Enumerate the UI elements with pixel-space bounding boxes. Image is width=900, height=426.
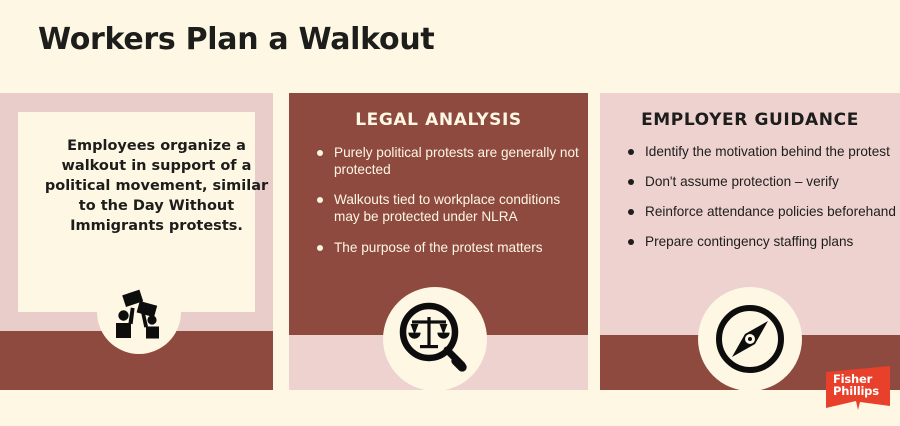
infographic-canvas: Workers Plan a Walkout Employees organiz…: [0, 0, 900, 426]
page-title: Workers Plan a Walkout: [38, 22, 434, 57]
protest-signs-icon: [97, 270, 181, 354]
compass-icon: [698, 287, 802, 391]
list-item: Purely political protests are generally …: [317, 144, 579, 178]
panel-employer-guidance-heading: EMPLOYER GUIDANCE: [600, 110, 900, 130]
panel-scenario-text: Employees organize a walkout in support …: [44, 136, 269, 236]
list-item: Identify the motivation behind the prote…: [628, 143, 898, 160]
panel-employer-guidance-bullets: Identify the motivation behind the prote…: [628, 143, 898, 264]
scales-magnifier-icon: [383, 287, 487, 391]
panel-legal-analysis-bullets: Purely political protests are generally …: [317, 144, 579, 269]
list-item: Reinforce attendance policies beforehand: [628, 203, 898, 220]
logo-line-2: Phillips: [833, 385, 879, 397]
list-item: The purpose of the protest matters: [317, 239, 579, 256]
panel-legal-analysis-heading: LEGAL ANALYSIS: [289, 110, 588, 130]
logo-text: Fisher Phillips: [833, 373, 879, 398]
fisher-phillips-logo: Fisher Phillips: [824, 366, 892, 416]
list-item: Don't assume protection – verify: [628, 173, 898, 190]
list-item: Walkouts tied to workplace conditions ma…: [317, 191, 579, 225]
list-item: Prepare contingency staffing plans: [628, 233, 898, 250]
